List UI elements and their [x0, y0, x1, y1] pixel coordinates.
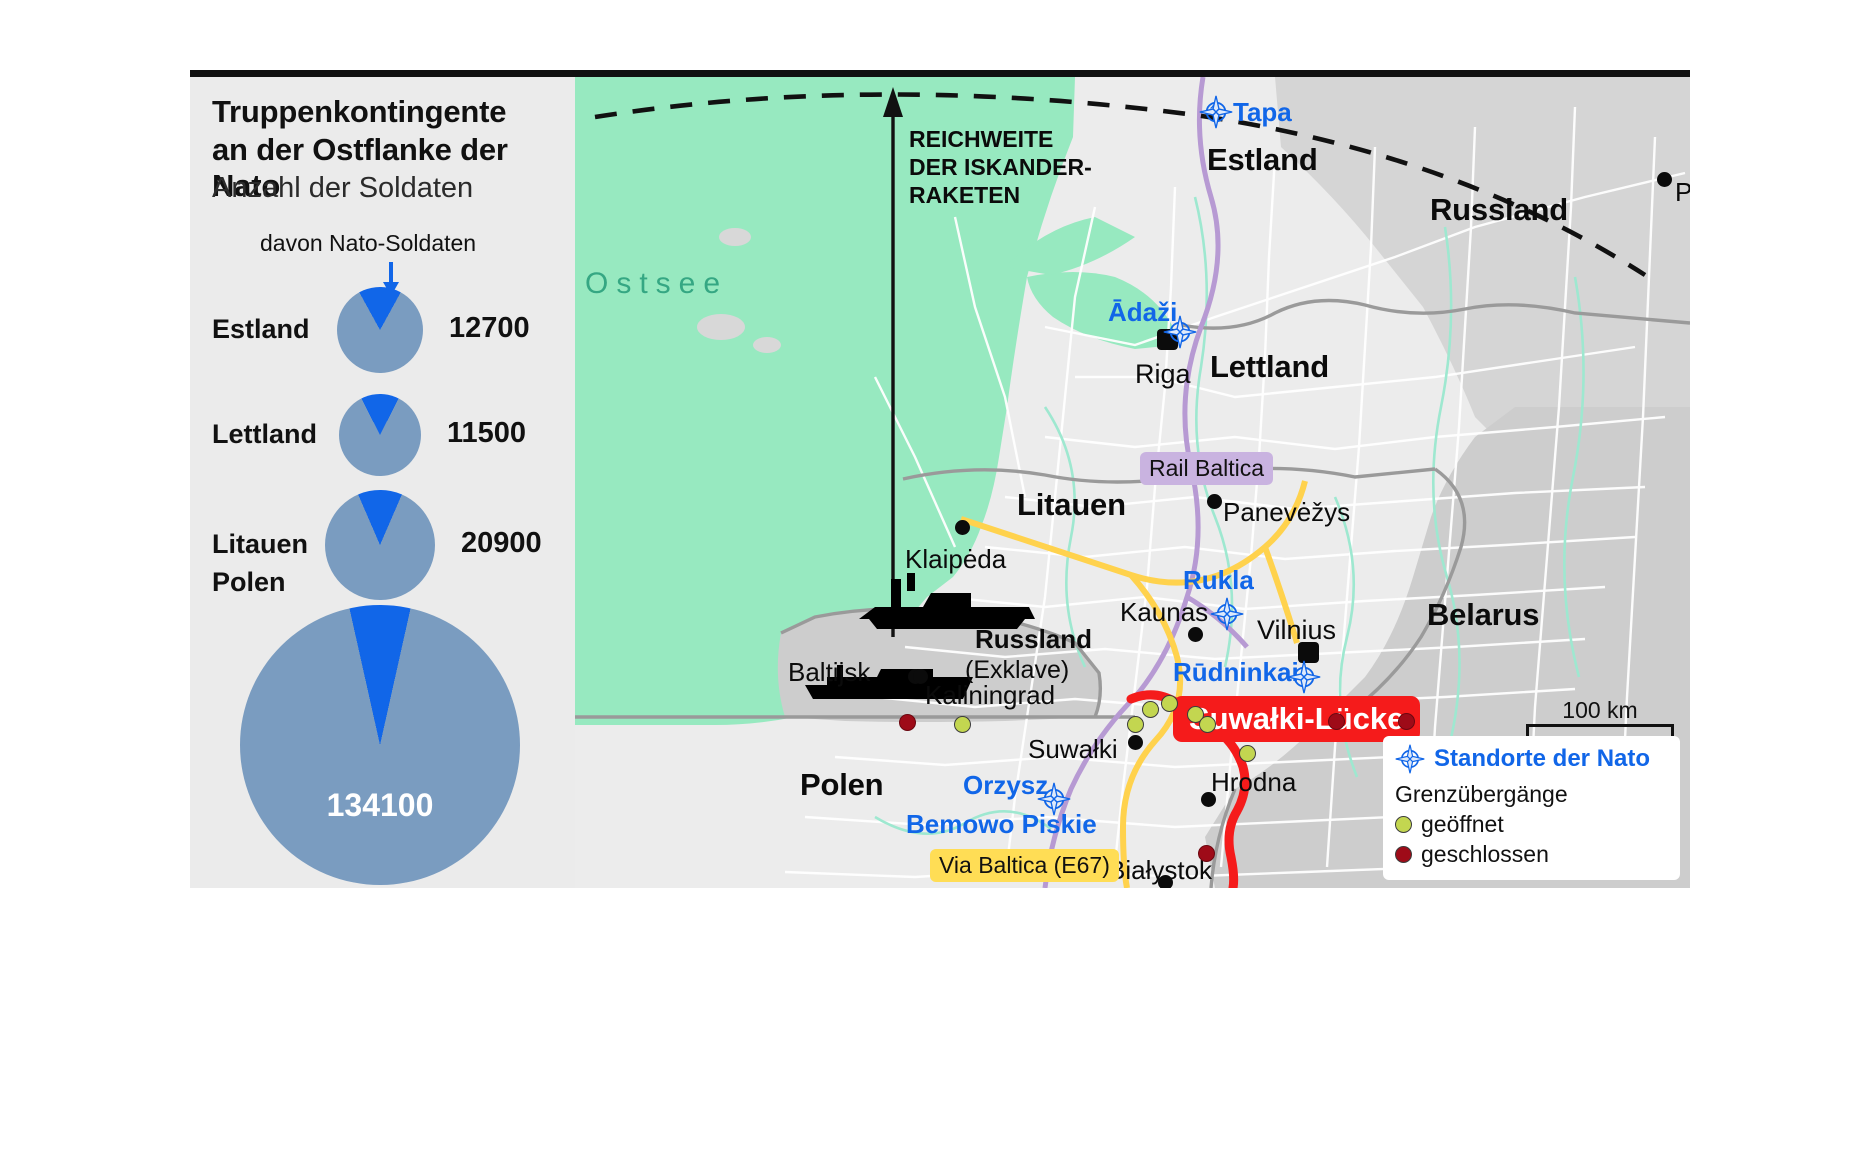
pie-value-lettland: 11500 — [447, 417, 526, 450]
pie-label-estland: Estland — [212, 314, 310, 345]
pie-value-litauen: 20900 — [461, 527, 542, 560]
city-dot — [913, 669, 928, 684]
panel-subtitle: Anzahl der Soldaten — [212, 172, 473, 205]
scale-label: 100 km — [1526, 697, 1674, 724]
border-crossing-closed — [1328, 713, 1345, 730]
nato-compass-icon — [1037, 782, 1071, 821]
city-dot — [1158, 875, 1173, 888]
border-crossing-open — [1199, 716, 1216, 733]
legend-item-label: geöffnet — [1421, 811, 1504, 838]
border-crossing-open — [1239, 745, 1256, 762]
city-dot — [955, 520, 970, 535]
legend-nato-title: Standorte der Nato — [1434, 745, 1650, 773]
city-dot — [1207, 494, 1222, 509]
legend-item-label: geschlossen — [1421, 841, 1549, 868]
map-tag-via-baltica: Via Baltica (E67) — [930, 849, 1119, 882]
border-crossing-closed — [1398, 713, 1415, 730]
panel-title-line1: Truppenkontingente — [212, 94, 506, 130]
pie-label-litauen: Litauen — [212, 529, 308, 560]
map-tag-rail-baltica: Rail Baltica — [1140, 452, 1273, 485]
map-legend: Standorte der Nato Grenzübergänge geöffn… — [1383, 736, 1680, 880]
border-crossing-closed — [1198, 845, 1215, 862]
pie-polen — [240, 605, 520, 885]
legend-dot — [1395, 846, 1412, 863]
city-dot — [1657, 172, 1672, 187]
legend-item: geöffnet — [1395, 811, 1670, 838]
nato-compass-icon — [1395, 744, 1425, 774]
pie-value-polen: 134100 — [290, 787, 470, 824]
stats-panel: Truppenkontingente an der Ostflanke der … — [190, 77, 575, 888]
infographic-root: Truppenkontingente an der Ostflanke der … — [0, 0, 1851, 1162]
legend-crossings-title: Grenzübergänge — [1395, 781, 1670, 808]
pie-litauen — [325, 490, 435, 600]
nato-compass-icon — [1210, 597, 1244, 636]
pie-estland — [337, 287, 423, 373]
border-crossing-open — [1142, 701, 1159, 718]
nato-share-annotation: davon Nato-Soldaten — [260, 230, 476, 257]
figure: Truppenkontingente an der Ostflanke der … — [190, 70, 1690, 888]
border-crossing-open — [1127, 716, 1144, 733]
pie-value-estland: 12700 — [449, 312, 530, 345]
legend-dot — [1395, 816, 1412, 833]
nato-compass-icon — [1287, 660, 1321, 699]
pie-lettland — [339, 394, 421, 476]
border-crossing-open — [954, 716, 971, 733]
city-dot — [1188, 627, 1203, 642]
border-crossing-closed — [899, 714, 916, 731]
top-rule — [190, 70, 1690, 77]
city-dot — [1201, 792, 1216, 807]
scale-bar: 100 km — [1526, 697, 1674, 738]
legend-items: geöffnetgeschlossen — [1395, 811, 1670, 868]
border-crossing-open — [1161, 695, 1178, 712]
nato-compass-icon — [1163, 315, 1197, 354]
legend-item: geschlossen — [1395, 841, 1670, 868]
city-dot — [1128, 735, 1143, 750]
pie-label-polen: Polen — [212, 567, 286, 598]
nato-compass-icon — [1199, 95, 1233, 134]
map[interactable]: OstseeREICHWEITEDER ISKANDER-RAKETENEstl… — [575, 77, 1690, 888]
pie-label-lettland: Lettland — [212, 419, 317, 450]
